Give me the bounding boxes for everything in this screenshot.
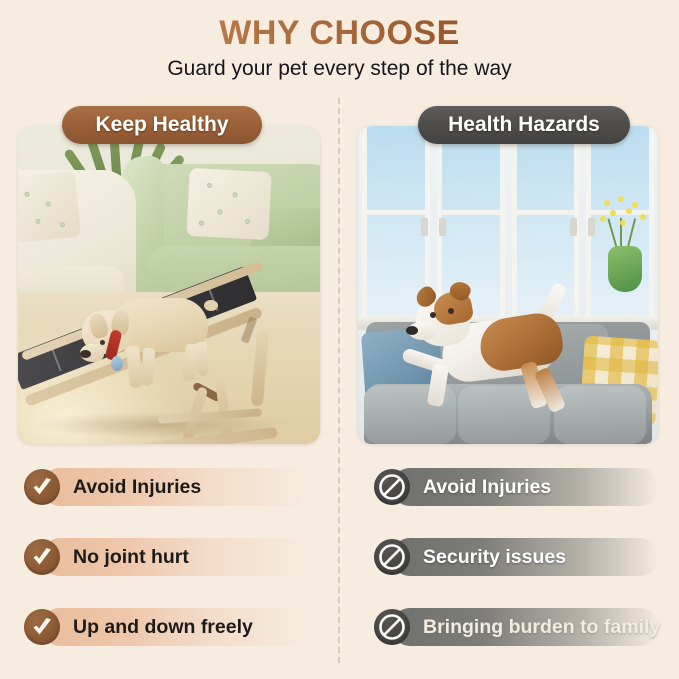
- hazard-list: Avoid Injuries Security issues Bringing …: [374, 466, 672, 676]
- check-icon: [24, 609, 60, 645]
- terrier-nose: [406, 326, 418, 335]
- badge-keep-healthy: Keep Healthy: [62, 106, 262, 144]
- benefit-list: Avoid Injuries No joint hurt Up and down…: [24, 466, 324, 676]
- prohibition-icon: [374, 539, 410, 575]
- list-item: Up and down freely: [24, 606, 324, 648]
- floral-pillow-left: [18, 171, 81, 244]
- jack-russell-terrier-jumping: [394, 276, 604, 444]
- vertical-dashed-divider: [338, 98, 340, 663]
- ramp-upright-post: [251, 330, 270, 407]
- floral-pillow-right: [186, 168, 271, 240]
- list-item: Avoid Injuries: [374, 466, 672, 508]
- check-icon: [24, 469, 60, 505]
- list-item-label: No joint hurt: [73, 546, 189, 569]
- badge-health-hazards: Health Hazards: [418, 106, 630, 144]
- list-item: No joint hurt: [24, 536, 324, 578]
- green-vase: [608, 246, 642, 292]
- dog-tail: [204, 300, 218, 311]
- infographic-page: WHY CHOOSE Guard your pet every step of …: [0, 0, 679, 679]
- ramp-crossbar: [158, 408, 262, 423]
- dog-nose: [80, 350, 91, 358]
- list-item: Avoid Injuries: [24, 466, 324, 508]
- list-item-label: Avoid Injuries: [73, 476, 201, 499]
- flower-bouquet: [594, 194, 656, 252]
- list-item-label: Up and down freely: [73, 616, 253, 639]
- prohibition-icon: [374, 609, 410, 645]
- dog-ear-left: [87, 311, 110, 340]
- check-icon: [24, 539, 60, 575]
- dog-hind-leg-2: [195, 342, 209, 377]
- french-bulldog: [80, 294, 220, 402]
- prohibition-icon: [374, 469, 410, 505]
- page-title: WHY CHOOSE: [0, 14, 679, 53]
- list-item: Security issues: [374, 536, 672, 578]
- terrier-eye-left: [430, 312, 436, 318]
- page-subtitle: Guard your pet every step of the way: [0, 57, 679, 81]
- hazard-scenario-photo: [358, 126, 658, 444]
- dog-front-leg-2: [141, 348, 156, 387]
- dog-collar-tag: [111, 356, 123, 371]
- terrier-eye-right: [448, 308, 454, 314]
- list-item: Bringing burden to family: [374, 606, 672, 648]
- list-item-label: Security issues: [423, 546, 566, 569]
- good-scenario-photo: [18, 126, 320, 444]
- list-item-label: Avoid Injuries: [423, 476, 551, 499]
- list-item-label: Bringing burden to family: [423, 616, 660, 639]
- dog-eye-left: [100, 340, 105, 345]
